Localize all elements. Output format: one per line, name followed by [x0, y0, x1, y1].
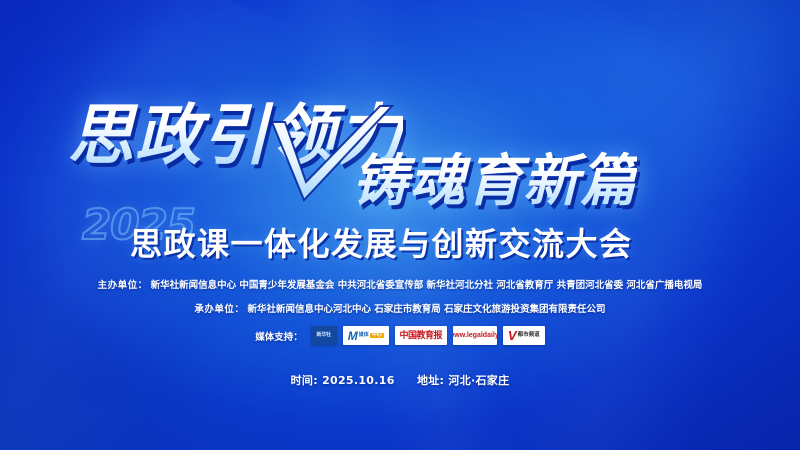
- place-value: 河北·石家庄: [448, 374, 509, 387]
- media-support-row: 媒体支持： 新华社 M 媒体 中心 中国教育报 法治网 www.legaldai…: [0, 326, 800, 345]
- media-m-logo-text: 媒体: [359, 333, 369, 338]
- city-news-v-logo-mark: V: [508, 329, 517, 342]
- time-label: 时间:: [291, 374, 318, 387]
- organizer-label: 承办单位：: [194, 304, 244, 315]
- headline-block: 思政引领力 铸魂育新篇: [0, 0, 800, 215]
- xinhua-news-logo-text: 新华社: [317, 333, 331, 338]
- media-m-logo-badge: 中心: [370, 333, 384, 338]
- event-subtitle: 思政课一体化发展与创新交流大会: [130, 219, 633, 265]
- media-support-label: 媒体支持：: [255, 329, 303, 343]
- host-organizers-row: 主办单位：新华社新闻信息中心 中国青少年发展基金会 中共河北省委宣传部 新华社河…: [0, 277, 800, 291]
- time-value: 2025.10.16: [322, 374, 395, 387]
- event-footer-info: 时间: 2025.10.16 地址: 河北·石家庄: [0, 372, 800, 388]
- headline-line-2: 铸魂育新篇: [352, 136, 637, 217]
- poster-canvas: 思政引领力 铸魂育新篇 2025 思政课一体化发展与创新交流大会 主办单位：新华…: [0, 0, 800, 450]
- xinhua-news-logo: 新华社: [311, 326, 337, 345]
- fazhi-net-logo: 法治网 www.legaldaily.com.cn: [453, 326, 497, 345]
- china-education-daily-logo-text: 中国教育报: [399, 331, 442, 340]
- fazhi-net-logo-url: www.legaldaily.com.cn: [453, 332, 497, 339]
- media-m-logo: M 媒体 中心: [343, 326, 389, 345]
- china-education-daily-logo: 中国教育报: [395, 326, 447, 345]
- co-organizers-row: 承办单位：新华社新闻信息中心河北中心 石家庄市教育局 石家庄文化旅游投资集团有限…: [0, 301, 800, 315]
- city-news-v-logo-text: 都市频道: [518, 333, 540, 339]
- host-value: 新华社新闻信息中心 中国青少年发展基金会 中共河北省委宣传部 新华社河北分社 河…: [151, 280, 703, 291]
- city-news-v-logo: V 都市频道: [503, 326, 545, 345]
- host-label: 主办单位：: [98, 280, 148, 291]
- organizer-value: 新华社新闻信息中心河北中心 石家庄市教育局 石家庄文化旅游投资集团有限责任公司: [247, 304, 605, 315]
- media-m-logo-mark: M: [348, 330, 358, 342]
- place-label: 地址:: [417, 374, 444, 387]
